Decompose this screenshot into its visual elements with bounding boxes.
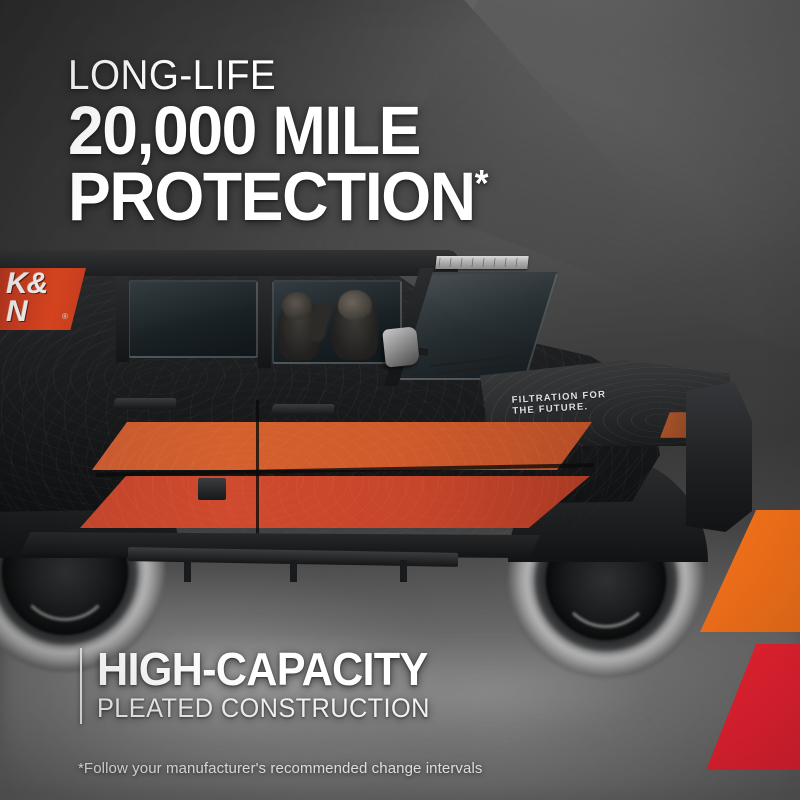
headline-line-2: PROTECTION* <box>68 164 488 230</box>
door-handle-rear <box>113 398 177 409</box>
vehicle-front-fascia <box>686 382 752 532</box>
side-step-leg-3 <box>400 560 407 582</box>
headline-line-1: 20,000 MILE <box>68 98 488 164</box>
side-step-leg-1 <box>184 560 191 582</box>
occupant-passenger-head <box>282 292 312 320</box>
side-step-leg-2 <box>290 560 297 582</box>
window-rear <box>128 280 258 358</box>
headline-footnote-marker: * <box>475 163 489 205</box>
subhead-line-2: PLEATED CONSTRUCTION <box>97 693 430 723</box>
kn-logo-text: K&N <box>6 270 47 326</box>
subhead-block: HIGH-CAPACITY PLEATED CONSTRUCTION <box>80 645 451 723</box>
roof-light-bar <box>435 256 528 269</box>
door-seam <box>256 400 259 544</box>
side-mirror <box>382 326 420 367</box>
kn-logo-registered-mark: ® <box>62 312 68 321</box>
b-pillar <box>258 276 271 368</box>
door-latch <box>198 478 226 500</box>
occupant-driver-head <box>338 290 372 320</box>
advertisement-canvas: FILTRATION FOR THE FUTURE. K&N ® LONG-LI… <box>0 0 800 800</box>
body-stripe-upper <box>92 422 592 470</box>
headline-block: LONG-LIFE 20,000 MILE PROTECTION* <box>68 52 520 230</box>
kn-logo: K&N ® <box>0 268 86 330</box>
subhead-line-1: HIGH-CAPACITY <box>97 645 430 693</box>
body-stripe-lower <box>80 476 590 528</box>
headline-line-2-text: PROTECTION <box>68 158 475 235</box>
subhead-divider-rule <box>80 648 82 724</box>
c-pillar <box>116 276 129 362</box>
footnote-disclaimer: *Follow your manufacturer's recommended … <box>78 760 482 777</box>
door-handle-front <box>271 404 335 415</box>
vehicle-illustration: FILTRATION FOR THE FUTURE. <box>0 232 780 652</box>
